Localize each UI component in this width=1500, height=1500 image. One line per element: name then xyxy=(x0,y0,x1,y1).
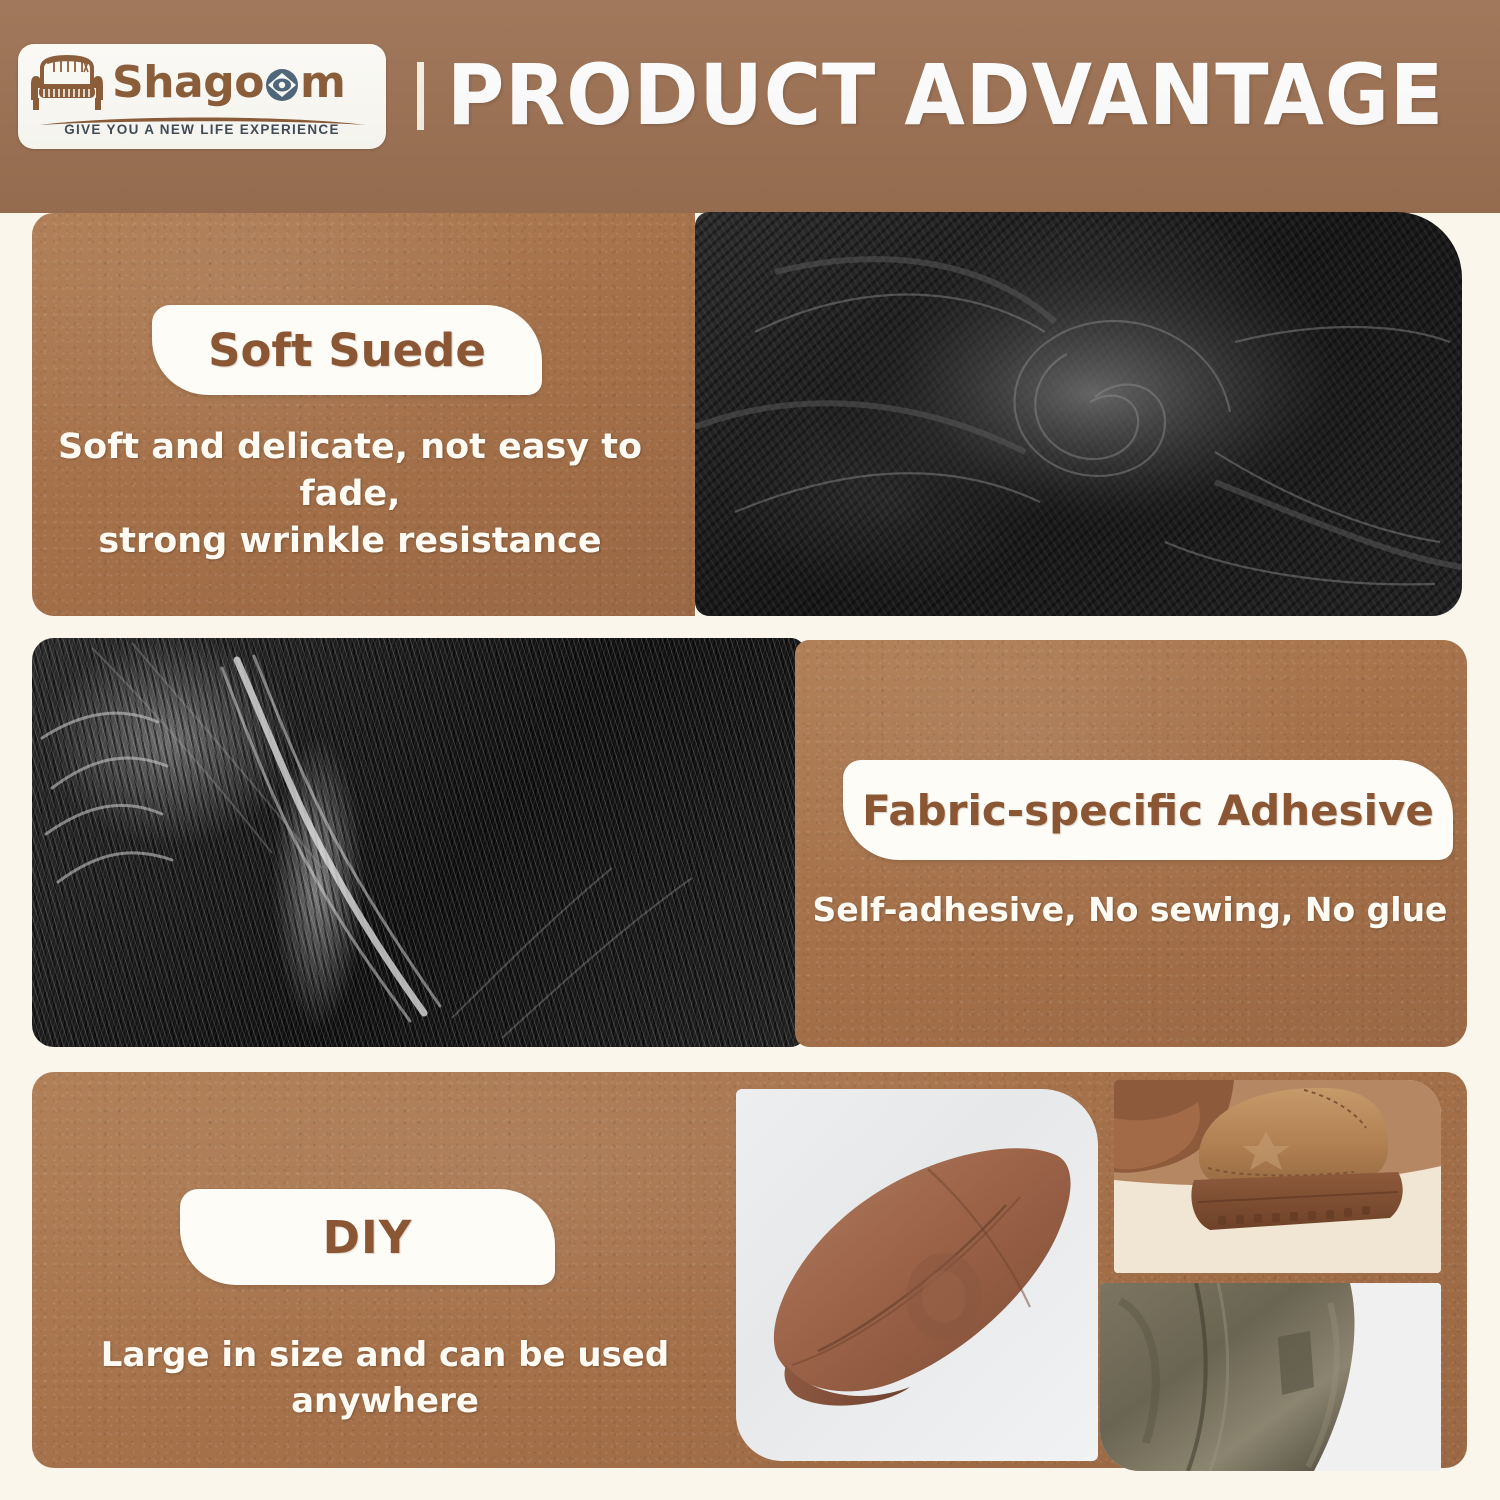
logo-wordmark: Shago m xyxy=(112,61,345,105)
logo-wordmark-part3: m xyxy=(300,61,345,105)
feature-label-diy: DIY xyxy=(180,1189,555,1285)
logo-wordmark-part2: o xyxy=(234,61,264,105)
boot-illustration xyxy=(1114,1080,1441,1273)
olive-suede-jacket-photo xyxy=(1100,1283,1441,1471)
cloth-swirl-overlay xyxy=(695,212,1462,616)
feature-label-fabric-specific-adhesive: Fabric-specific Adhesive xyxy=(843,760,1453,860)
feature-description-soft-suede: Soft and delicate, not easy to fade, str… xyxy=(40,424,660,565)
page-title: PRODUCT ADVANTAGE xyxy=(447,40,1444,150)
fur-highlight-overlay xyxy=(32,638,805,1047)
flat-cap-illustration xyxy=(758,1129,1076,1421)
brown-flat-cap-photo xyxy=(736,1089,1098,1461)
header-band: Shago m GIVE YOU A NEW LIFE EXPERIENCE P… xyxy=(0,0,1500,213)
feature-label-soft-suede: Soft Suede xyxy=(152,305,542,395)
feature-description-line: strong wrinkle resistance xyxy=(40,518,660,565)
feature-label-text: DIY xyxy=(323,1211,413,1264)
feature-label-text: Soft Suede xyxy=(208,324,486,377)
feature-description-fabric-specific-adhesive: Self-adhesive, No sewing, No glue xyxy=(810,888,1450,932)
logo-inner: Shago m xyxy=(28,48,376,118)
feature-description-line: Soft and delicate, not easy to fade, xyxy=(40,424,660,518)
black-suede-cloth-photo xyxy=(695,212,1462,616)
tan-suede-boot-photo xyxy=(1114,1080,1441,1273)
brand-logo[interactable]: Shago m GIVE YOU A NEW LIFE EXPERIENCE xyxy=(18,44,386,149)
jacket-illustration xyxy=(1100,1283,1441,1471)
header-divider xyxy=(417,62,424,130)
logo-wordmark-part1: Shag xyxy=(112,61,234,105)
logo-tagline: GIVE YOU A NEW LIFE EXPERIENCE xyxy=(18,122,386,137)
sofa-icon xyxy=(28,54,106,112)
logo-eye-icon xyxy=(265,66,299,100)
black-adhesive-fabric-backing-photo xyxy=(32,638,805,1047)
feature-description-diy: Large in size and can be used anywhere xyxy=(55,1333,715,1424)
feature-label-text: Fabric-specific Adhesive xyxy=(862,786,1434,835)
